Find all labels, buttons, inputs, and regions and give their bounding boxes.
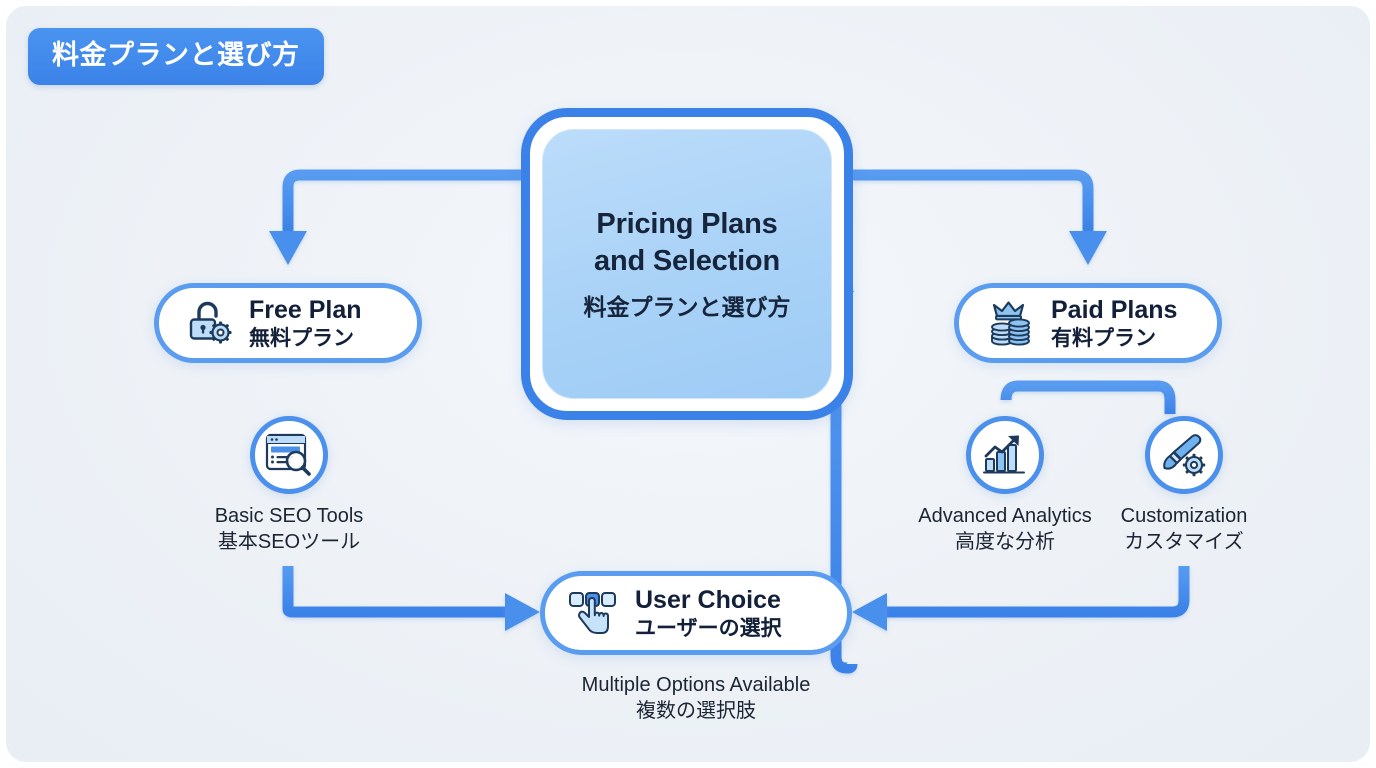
node-user-choice[interactable]: User Choice ユーザーの選択 [540,571,852,655]
node-free-plan-title-jp: 無料プラン [249,327,362,351]
caption-basic-seo-tools-jp: 基本SEOツール [149,530,429,554]
arrowhead-choice-right [852,593,887,631]
node-user-choice-title-en: User Choice [635,586,782,614]
center-node-inner: Pricing Plans and Selection 料金プランと選び方 [542,129,832,399]
caption-basic-seo-tools: Basic SEO Tools 基本SEOツール [149,504,429,555]
center-title-en-line2: and Selection [594,245,780,277]
center-title-en: Pricing Plans and Selection [594,206,780,280]
center-title-en-line1: Pricing Plans [596,208,777,240]
browser-search-icon [264,432,314,478]
caption-basic-seo-tools-en: Basic SEO Tools [149,504,429,528]
arrowhead-paid [1069,231,1107,265]
caption-multiple-options-jp: 複数の選択肢 [516,699,876,723]
arrowhead-free [269,231,307,265]
open-padlock-gear-icon [185,298,235,348]
crown-coins-icon [985,298,1037,348]
edge-customization-to-choice [880,566,1184,612]
growth-chart-icon [981,432,1029,478]
caption-customization-jp: カスタマイズ [1072,530,1296,554]
arrowhead-choice-left [505,593,540,631]
node-paid-plans-title-en: Paid Plans [1051,296,1177,324]
pointing-hand-options-icon [567,587,621,639]
caption-multiple-options: Multiple Options Available 複数の選択肢 [516,673,876,724]
edge-center-to-free [288,175,521,232]
node-user-choice-texts: User Choice ユーザーの選択 [635,586,782,641]
edge-seo-to-choice [288,566,523,612]
node-free-plan[interactable]: Free Plan 無料プラン [154,283,422,363]
center-title-jp: 料金プランと選び方 [584,288,791,322]
leaf-node-customization[interactable] [1145,416,1223,494]
leaf-node-advanced-analytics[interactable] [966,416,1044,494]
center-node-pricing-plans[interactable]: Pricing Plans and Selection 料金プランと選び方 [521,108,853,420]
caption-customization: Customization カスタマイズ [1072,504,1296,555]
caption-customization-en: Customization [1072,504,1296,528]
leaf-node-basic-seo-tools[interactable] [250,416,328,494]
paintbrush-gear-icon [1160,432,1208,478]
node-free-plan-title-en: Free Plan [249,296,362,324]
caption-multiple-options-en: Multiple Options Available [516,673,876,697]
edge-paid-split-bar [1006,386,1170,414]
node-paid-plans-title-jp: 有料プラン [1051,327,1177,351]
edge-center-to-paid [853,175,1088,232]
node-paid-plans-texts: Paid Plans 有料プラン [1051,296,1177,351]
node-free-plan-texts: Free Plan 無料プラン [249,296,362,351]
node-user-choice-title-jp: ユーザーの選択 [635,617,782,641]
node-paid-plans[interactable]: Paid Plans 有料プラン [954,283,1222,363]
diagram-canvas: 料金プランと選び方 Pricing Plans and Selection 料金… [0,0,1376,768]
